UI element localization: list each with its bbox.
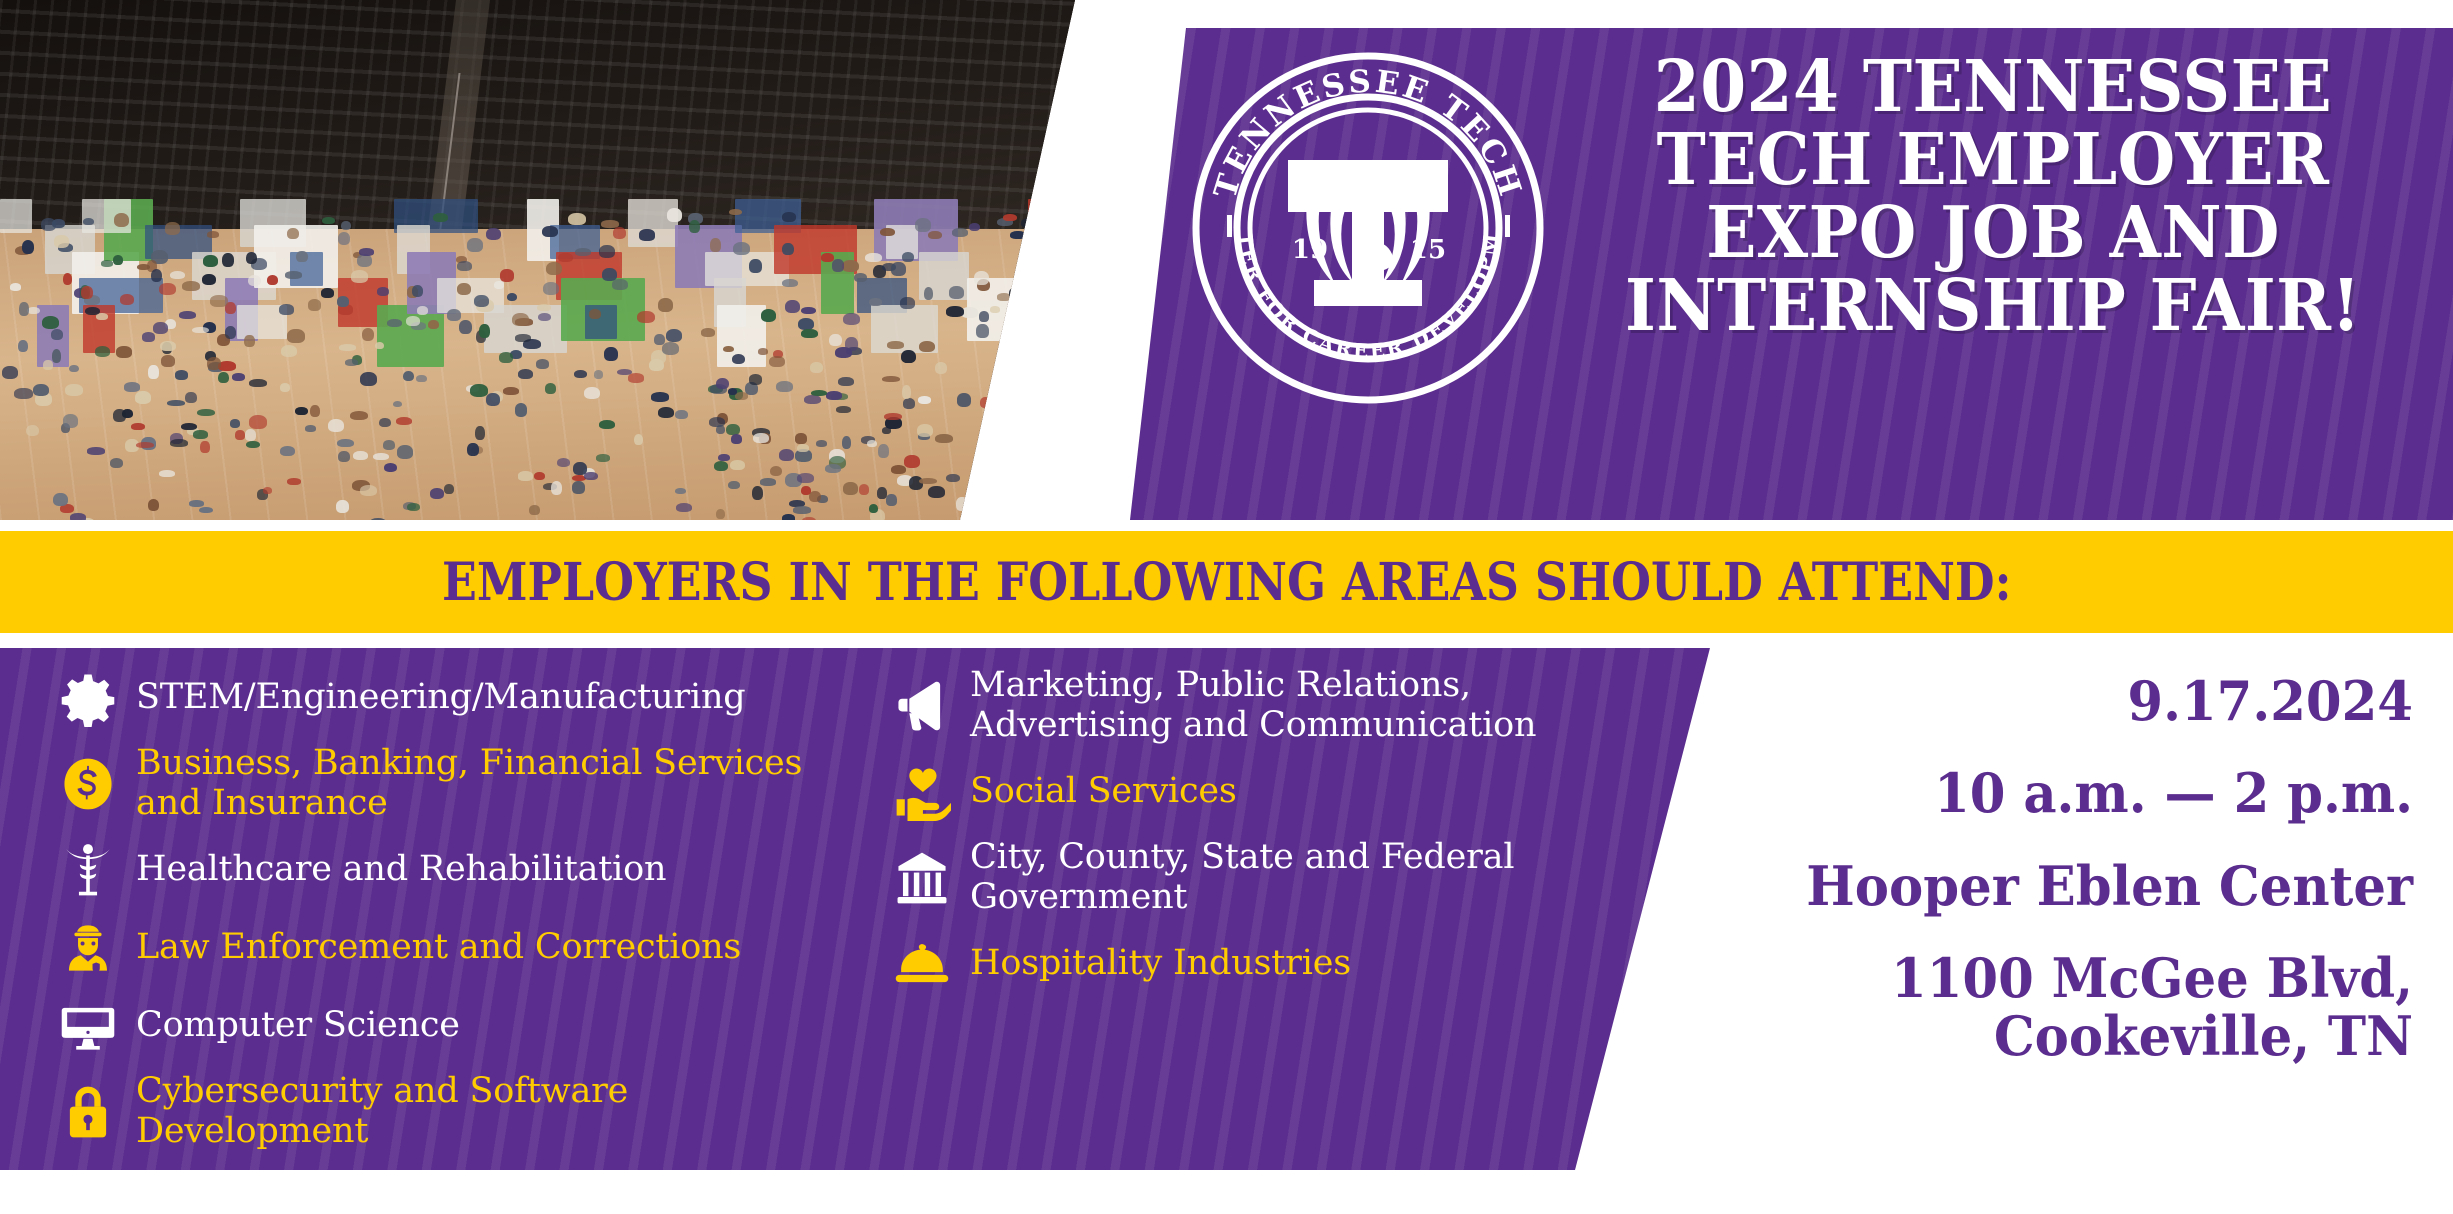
event-date: 9.17.2024 xyxy=(1805,672,2413,730)
area-item-label: Business, Banking, Financial Services an… xyxy=(136,744,846,824)
areas-column-right: Marketing, Public Relations, Advertising… xyxy=(890,666,1650,1010)
hero-panel: TENNESSEE TECH CENTER FOR CAREER DEVELOP… xyxy=(1130,28,2453,520)
title-line-2: TECH EMPLOYER xyxy=(1592,123,2394,196)
area-item: Healthcare and Rehabilitation xyxy=(56,838,846,902)
title-line-1: 2024 TENNESSEE xyxy=(1592,50,2394,123)
area-item: Computer Science xyxy=(56,994,846,1058)
hand-heart-icon xyxy=(890,760,954,824)
event-address: 1100 McGee Blvd, Cookeville, TN xyxy=(1805,949,2413,1066)
title-line-3: EXPO JOB AND xyxy=(1592,196,2394,269)
area-item-label: Computer Science xyxy=(136,1006,460,1046)
police-officer-icon xyxy=(56,916,120,980)
svg-text:15: 15 xyxy=(1410,235,1446,265)
area-item-label: Social Services xyxy=(970,772,1237,812)
areas-column-left: STEM/Engineering/ManufacturingBusiness, … xyxy=(56,666,846,1166)
megaphone-icon xyxy=(890,674,954,738)
photo-image xyxy=(0,0,1075,520)
area-item-label: Marketing, Public Relations, Advertising… xyxy=(970,666,1650,746)
area-item: Marketing, Public Relations, Advertising… xyxy=(890,666,1650,746)
gold-callout-band: EMPLOYERS IN THE FOLLOWING AREAS SHOULD … xyxy=(0,531,2453,633)
tennessee-tech-seal-icon: TENNESSEE TECH CENTER FOR CAREER DEVELOP… xyxy=(1192,52,1544,404)
area-item: City, County, State and Federal Governme… xyxy=(890,838,1650,918)
area-item: STEM/Engineering/Manufacturing xyxy=(56,666,846,730)
area-item-label: Healthcare and Rehabilitation xyxy=(136,850,666,890)
event-time: 10 a.m. — 2 p.m. xyxy=(1805,764,2413,822)
dollar-coin-icon xyxy=(56,752,120,816)
event-venue: Hooper Eblen Center xyxy=(1805,857,2413,915)
title-line-4: INTERNSHIP FAIR! xyxy=(1592,269,2394,342)
lock-icon xyxy=(56,1080,120,1144)
caduceus-icon xyxy=(56,838,120,902)
area-item: Hospitality Industries xyxy=(890,932,1650,996)
career-fair-photo xyxy=(0,0,1075,520)
area-item-label: Law Enforcement and Corrections xyxy=(136,928,741,968)
area-item-label: City, County, State and Federal Governme… xyxy=(970,838,1650,918)
area-item: Cybersecurity and Software Development xyxy=(56,1072,846,1152)
address-line-1: 1100 McGee Blvd, xyxy=(1805,949,2413,1007)
area-item-label: Cybersecurity and Software Development xyxy=(136,1072,846,1152)
attendee-crowd xyxy=(0,208,1075,520)
area-item-label: Hospitality Industries xyxy=(970,944,1351,984)
svg-text:19: 19 xyxy=(1292,235,1328,265)
food-cloche-icon xyxy=(890,932,954,996)
gear-icon xyxy=(56,666,120,730)
monitor-icon xyxy=(56,994,120,1058)
area-item: Social Services xyxy=(890,760,1650,824)
event-details: 9.17.2024 10 a.m. — 2 p.m. Hooper Eblen … xyxy=(1773,672,2413,1066)
areas-panel: STEM/Engineering/ManufacturingBusiness, … xyxy=(0,648,1720,1170)
area-item-label: STEM/Engineering/Manufacturing xyxy=(136,678,746,718)
area-item: Business, Banking, Financial Services an… xyxy=(56,744,846,824)
page-title: 2024 TENNESSEE TECH EMPLOYER EXPO JOB AN… xyxy=(1562,50,2424,343)
address-line-2: Cookeville, TN xyxy=(1805,1007,2413,1065)
government-bank-icon xyxy=(890,846,954,910)
area-item: Law Enforcement and Corrections xyxy=(56,916,846,980)
gold-band-text: EMPLOYERS IN THE FOLLOWING AREAS SHOULD … xyxy=(442,552,2011,613)
